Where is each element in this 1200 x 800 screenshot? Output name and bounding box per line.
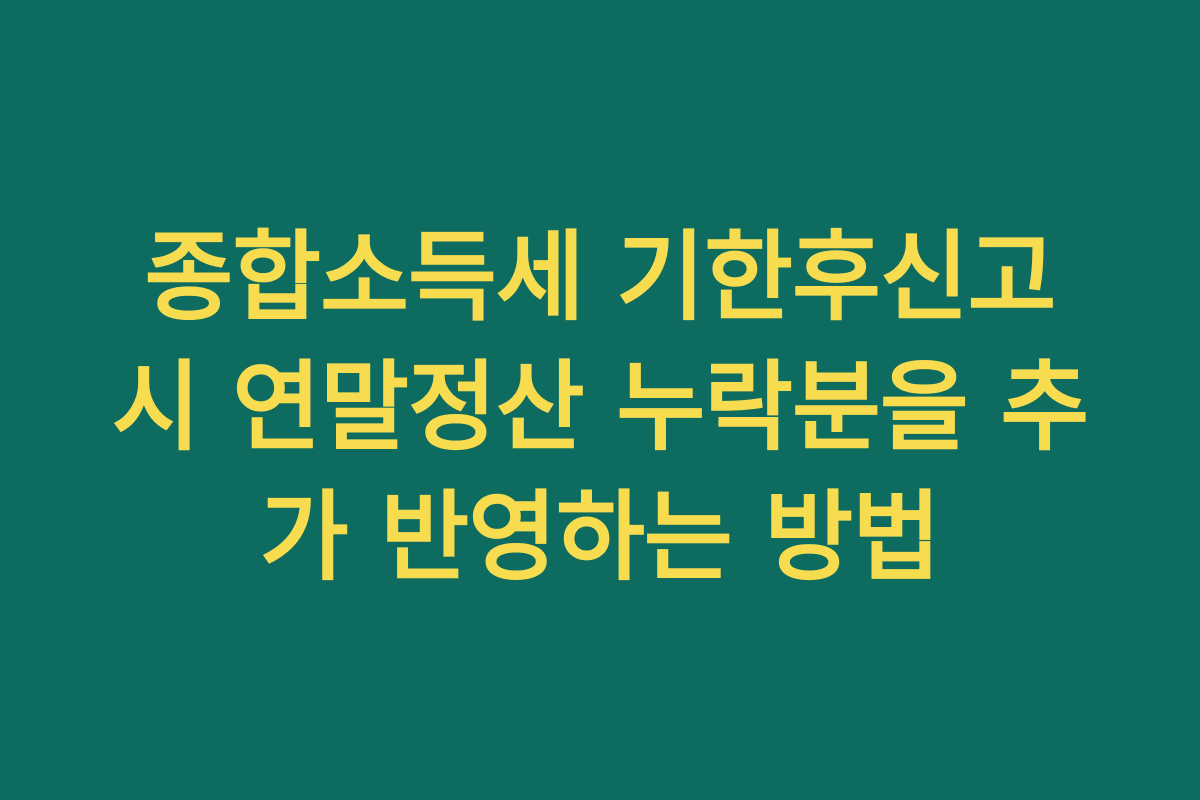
page-title: 종합소득세 기한후신고 시 연말정산 누락분을 추 가 반영하는 방법 bbox=[0, 213, 1200, 603]
title-line-1: 종합소득세 기한후신고 bbox=[9, 213, 1191, 343]
title-line-3: 가 반영하는 방법 bbox=[9, 473, 1191, 603]
thumbnail-card: 종합소득세 기한후신고 시 연말정산 누락분을 추 가 반영하는 방법 bbox=[0, 0, 1200, 800]
title-line-2: 시 연말정산 누락분을 추 bbox=[9, 343, 1191, 473]
